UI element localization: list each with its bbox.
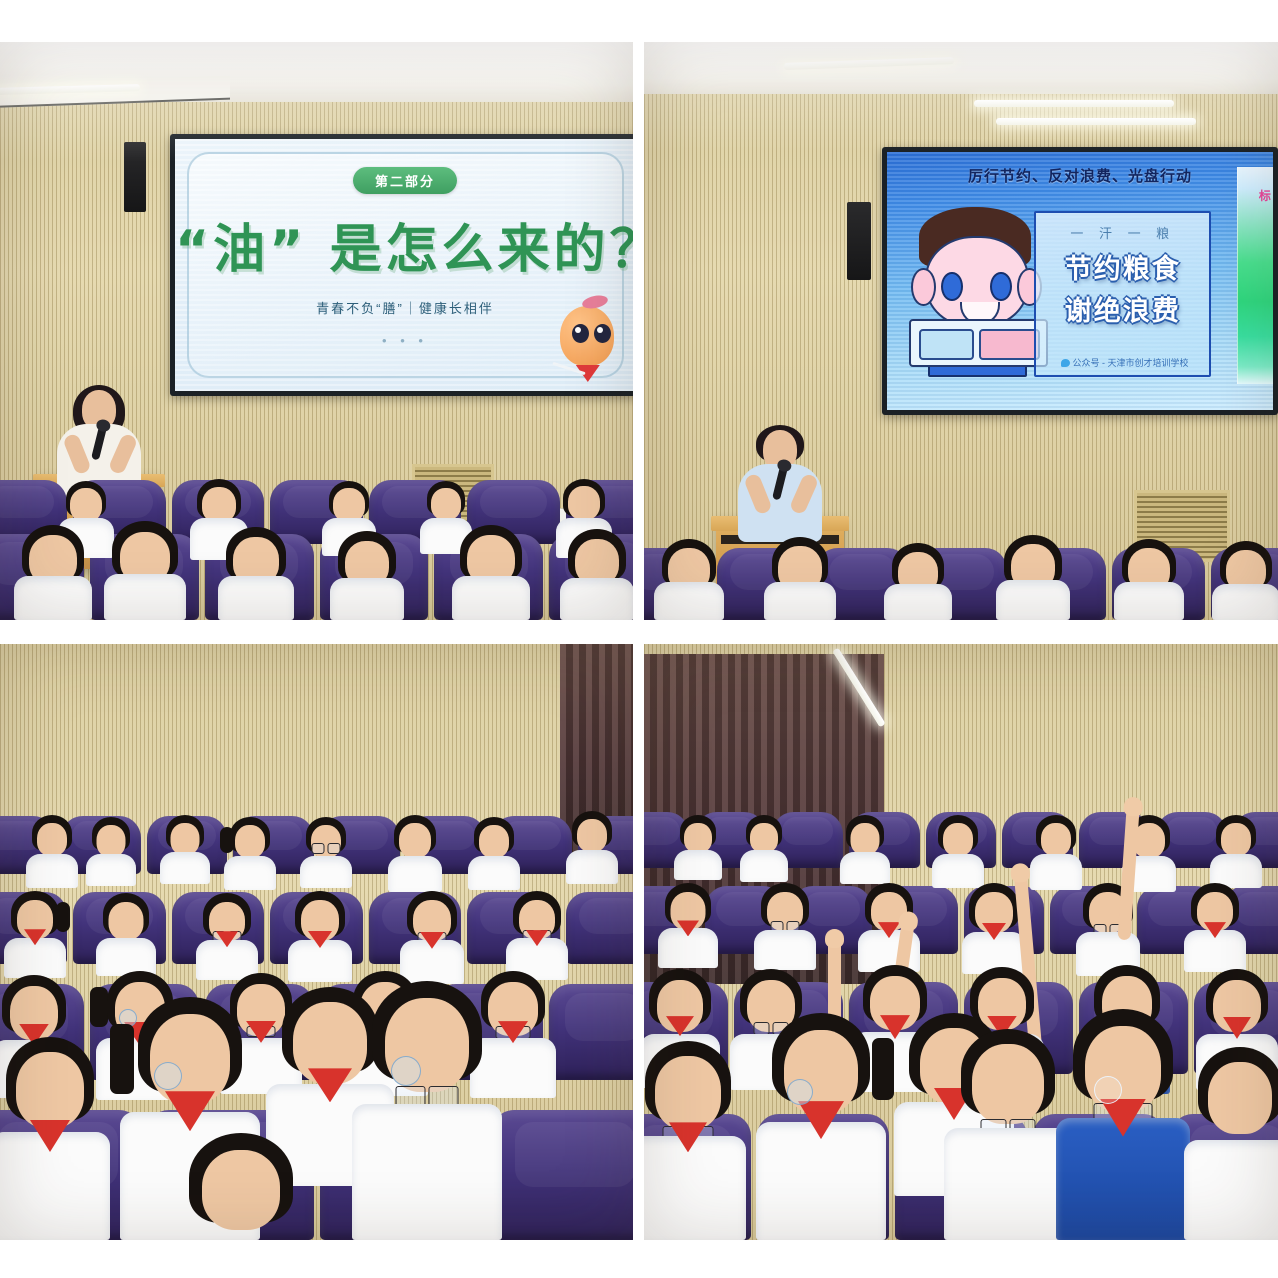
student-figure bbox=[468, 820, 520, 890]
poster-credit: 公众号 - 天津市创才培训学校 bbox=[1047, 356, 1203, 369]
student-figure bbox=[944, 1032, 1072, 1240]
student-figure bbox=[1212, 544, 1278, 620]
student-figure bbox=[566, 814, 618, 884]
audience bbox=[0, 720, 633, 1240]
student-figure bbox=[674, 818, 722, 880]
student-figure bbox=[756, 1016, 886, 1240]
student-figure bbox=[764, 540, 836, 620]
poster-credit-text: 公众号 - 天津市创才培训学校 bbox=[1073, 358, 1189, 368]
student-figure bbox=[644, 1044, 746, 1240]
student-figure bbox=[1184, 1050, 1278, 1240]
student-figure bbox=[224, 820, 276, 890]
student-figure bbox=[330, 534, 404, 620]
slide-oil: 第二部分 “油” 是怎么来的？ 青春不负“膳”｜健康长相伴 • • • bbox=[175, 139, 633, 391]
student-figure bbox=[1184, 886, 1246, 972]
audience bbox=[0, 460, 633, 620]
seat bbox=[549, 984, 633, 1080]
photo-collage: 第二部分 “油” 是怎么来的？ 青春不负“膳”｜健康长相伴 • • • bbox=[0, 0, 1278, 1278]
student-figure bbox=[996, 538, 1070, 620]
screen-face: 厉行节约、反对浪费、光盘行动 bbox=[887, 152, 1273, 410]
student-figure bbox=[452, 528, 530, 620]
poster-main-line-2: 谢绝浪费 bbox=[1036, 297, 1209, 326]
photo-bottom-left bbox=[0, 644, 633, 1240]
student-figure bbox=[1030, 818, 1082, 890]
student-figure bbox=[4, 894, 66, 978]
ceiling-light bbox=[974, 100, 1174, 107]
student-figure bbox=[352, 984, 502, 1240]
student-figure bbox=[288, 894, 352, 982]
student-figure bbox=[196, 896, 258, 980]
slide-sidebar-strip: 标 bbox=[1237, 167, 1273, 384]
slide-food-saving: 厉行节约、反对浪费、光盘行动 bbox=[887, 152, 1273, 410]
projection-screen: 第二部分 “油” 是怎么来的？ 青春不负“膳”｜健康长相伴 • • • bbox=[170, 134, 633, 396]
audience bbox=[644, 700, 1278, 1240]
student-figure bbox=[658, 886, 718, 968]
poster-panel: 一 汗 一 粮 节约粮食 谢绝浪费 公众号 - 天津市创才培训学校 bbox=[1034, 211, 1211, 378]
ceiling bbox=[644, 42, 1278, 94]
student-figure bbox=[160, 818, 210, 884]
slide-title: “油” 是怎么来的？ bbox=[175, 207, 633, 282]
seat bbox=[566, 892, 633, 964]
student-figure bbox=[884, 546, 952, 620]
student-figure bbox=[104, 524, 186, 620]
audience bbox=[644, 510, 1278, 620]
slide-section-chip: 第二部分 bbox=[353, 167, 457, 194]
photo-top-left: 第二部分 “油” 是怎么来的？ 青春不负“膳”｜健康长相伴 • • • bbox=[0, 42, 633, 620]
student-figure bbox=[300, 820, 352, 888]
student-figure bbox=[0, 1040, 110, 1240]
student-figure bbox=[86, 820, 136, 886]
student-figure bbox=[400, 894, 464, 984]
ceiling-light bbox=[996, 118, 1196, 125]
student-figure bbox=[1114, 542, 1184, 620]
student-figure bbox=[1210, 818, 1262, 888]
student-figure bbox=[96, 896, 156, 976]
wall-speaker bbox=[847, 202, 871, 280]
seat bbox=[492, 1110, 633, 1240]
photo-top-right: 厉行节约、反对浪费、光盘行动 bbox=[644, 42, 1278, 620]
student-figure bbox=[218, 530, 294, 620]
student-figure bbox=[740, 818, 788, 882]
projection-screen: 厉行节约、反对浪费、光盘行动 bbox=[882, 147, 1278, 415]
sidebar-mark: 标 bbox=[1259, 187, 1271, 204]
student-figure bbox=[754, 886, 816, 970]
student-figure bbox=[840, 818, 890, 884]
seat-row bbox=[644, 886, 1278, 954]
photo-bottom-right bbox=[644, 644, 1278, 1240]
student-figure bbox=[932, 818, 984, 888]
student-figure bbox=[506, 894, 568, 980]
student-figure bbox=[388, 818, 442, 892]
student-figure bbox=[14, 528, 92, 620]
slide-title: 厉行节约、反对浪费、光盘行动 bbox=[887, 165, 1273, 186]
poster-top-line: 一 汗 一 粮 bbox=[1036, 223, 1209, 242]
cartoon-boy-icon bbox=[909, 207, 1045, 377]
slide-poster: 一 汗 一 粮 节约粮食 谢绝浪费 公众号 - 天津市创才培训学校 bbox=[902, 204, 1211, 385]
wechat-icon bbox=[1061, 359, 1070, 367]
poster-main-line-1: 节约粮食 bbox=[1036, 255, 1209, 284]
screen-face: 第二部分 “油” 是怎么来的？ 青春不负“膳”｜健康长相伴 • • • bbox=[175, 139, 633, 391]
wall-speaker bbox=[124, 142, 146, 212]
student-figure bbox=[176, 1136, 306, 1240]
mascot-icon bbox=[554, 290, 626, 386]
student-figure bbox=[654, 542, 724, 620]
student-figure bbox=[1056, 1012, 1190, 1240]
student-figure bbox=[560, 532, 633, 620]
student-figure bbox=[26, 818, 78, 888]
